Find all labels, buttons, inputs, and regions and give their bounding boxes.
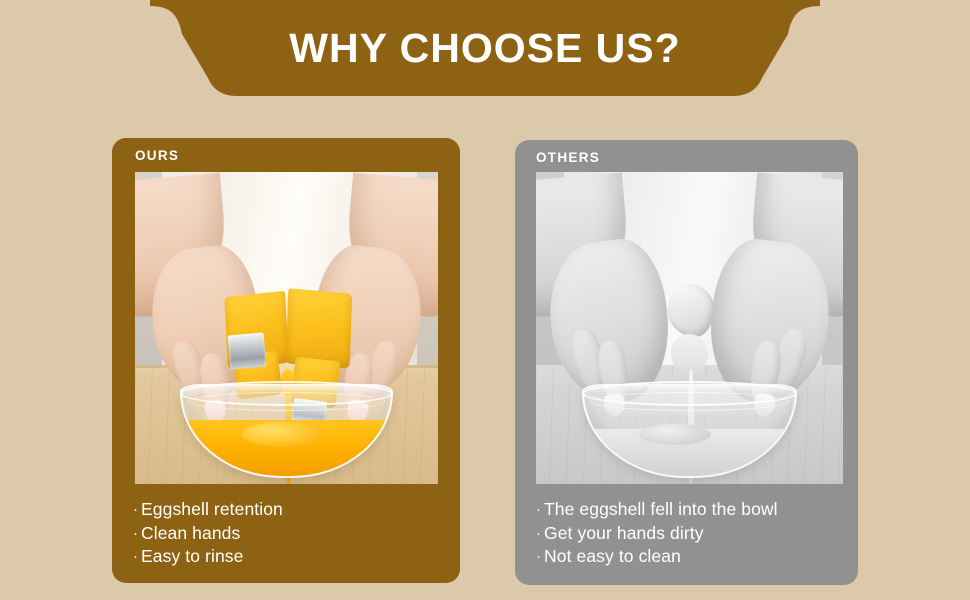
bullet-dot-icon: · — [536, 546, 544, 569]
page-title: WHY CHOOSE US? — [0, 0, 970, 96]
bullet-dot-icon: · — [133, 546, 141, 569]
list-item-label: Easy to rinse — [141, 546, 243, 566]
list-item: ·The eggshell fell into the bowl — [536, 498, 856, 522]
list-item: ·Easy to rinse — [133, 545, 453, 569]
list-item-label: Not easy to clean — [544, 546, 681, 566]
egg-yolk — [241, 422, 324, 447]
bullet-dot-icon: · — [133, 523, 141, 546]
photo-others-scene — [536, 172, 843, 484]
bullet-list-others: ·The eggshell fell into the bowl ·Get yo… — [536, 498, 856, 569]
photo-others — [536, 172, 843, 484]
bowl-inner-rim — [590, 392, 790, 411]
list-item-label: Get your hands dirty — [544, 523, 704, 543]
metal-blade-upper — [227, 333, 266, 370]
comparison-card-others: OTHERS — [515, 140, 858, 585]
bullet-dot-icon: · — [536, 523, 544, 546]
comparison-card-ours: OURS — [112, 138, 460, 583]
bullet-list-ours: ·Eggshell retention ·Clean hands ·Easy t… — [133, 498, 453, 569]
card-label-others: OTHERS — [536, 151, 600, 165]
list-item: ·Eggshell retention — [133, 498, 453, 522]
list-item: ·Get your hands dirty — [536, 522, 856, 546]
banner-shape — [0, 0, 970, 110]
card-label-ours: OURS — [135, 149, 179, 163]
list-item: ·Not easy to clean — [536, 545, 856, 569]
list-item-label: Clean hands — [141, 523, 240, 543]
header-banner: WHY CHOOSE US? — [0, 0, 970, 110]
bullet-dot-icon: · — [133, 499, 141, 522]
cracker-tool-right — [285, 288, 351, 368]
list-item-label: Eggshell retention — [141, 499, 283, 519]
bowl-inner-rim — [188, 392, 385, 411]
bullet-dot-icon: · — [536, 499, 544, 522]
list-item: ·Clean hands — [133, 522, 453, 546]
photo-ours-scene — [135, 172, 438, 484]
egg-yolk — [639, 424, 711, 446]
photo-ours — [135, 172, 438, 484]
list-item-label: The eggshell fell into the bowl — [544, 499, 778, 519]
